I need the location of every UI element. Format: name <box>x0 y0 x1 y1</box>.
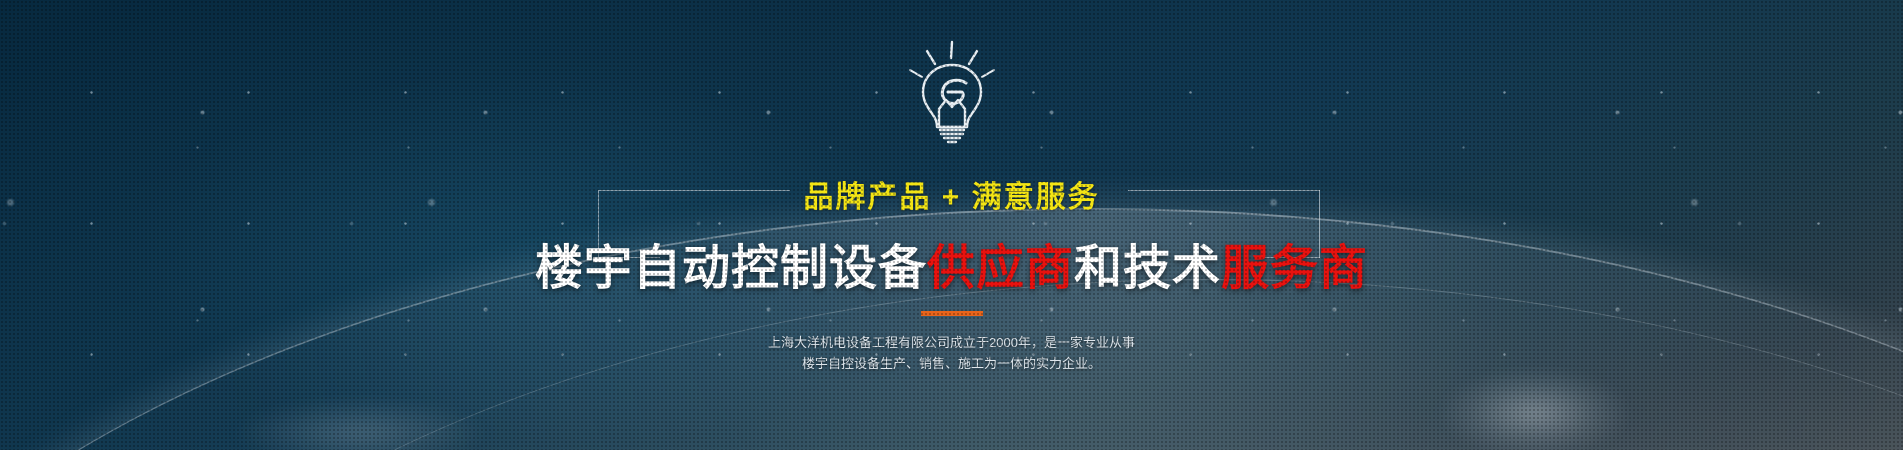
headline-segment-1: 楼宇自动控制设备 <box>535 242 927 295</box>
banner-content: 品牌产品 + 满意服务 楼宇自动控制设备供应商和技术服务商 上海大洋机电设备工程… <box>0 0 1903 450</box>
orange-divider <box>921 311 983 316</box>
lightbulb-e-icon <box>0 38 1903 146</box>
banner-description: 上海大洋机电设备工程有限公司成立于2000年，是一家专业从事 楼宇自控设备生产、… <box>0 332 1903 374</box>
banner-headline: 楼宇自动控制设备供应商和技术服务商 <box>0 228 1903 298</box>
hero-banner: 品牌产品 + 满意服务 楼宇自动控制设备供应商和技术服务商 上海大洋机电设备工程… <box>0 0 1903 450</box>
headline-segment-2: 供应商 <box>927 242 1074 295</box>
description-line-2: 楼宇自控设备生产、销售、施工为一体的实力企业。 <box>0 353 1903 374</box>
headline-segment-3: 和技术 <box>1074 242 1221 295</box>
headline-segment-4: 服务商 <box>1221 242 1368 295</box>
banner-subtitle: 品牌产品 + 满意服务 <box>0 172 1903 216</box>
description-line-1: 上海大洋机电设备工程有限公司成立于2000年，是一家专业从事 <box>0 332 1903 353</box>
